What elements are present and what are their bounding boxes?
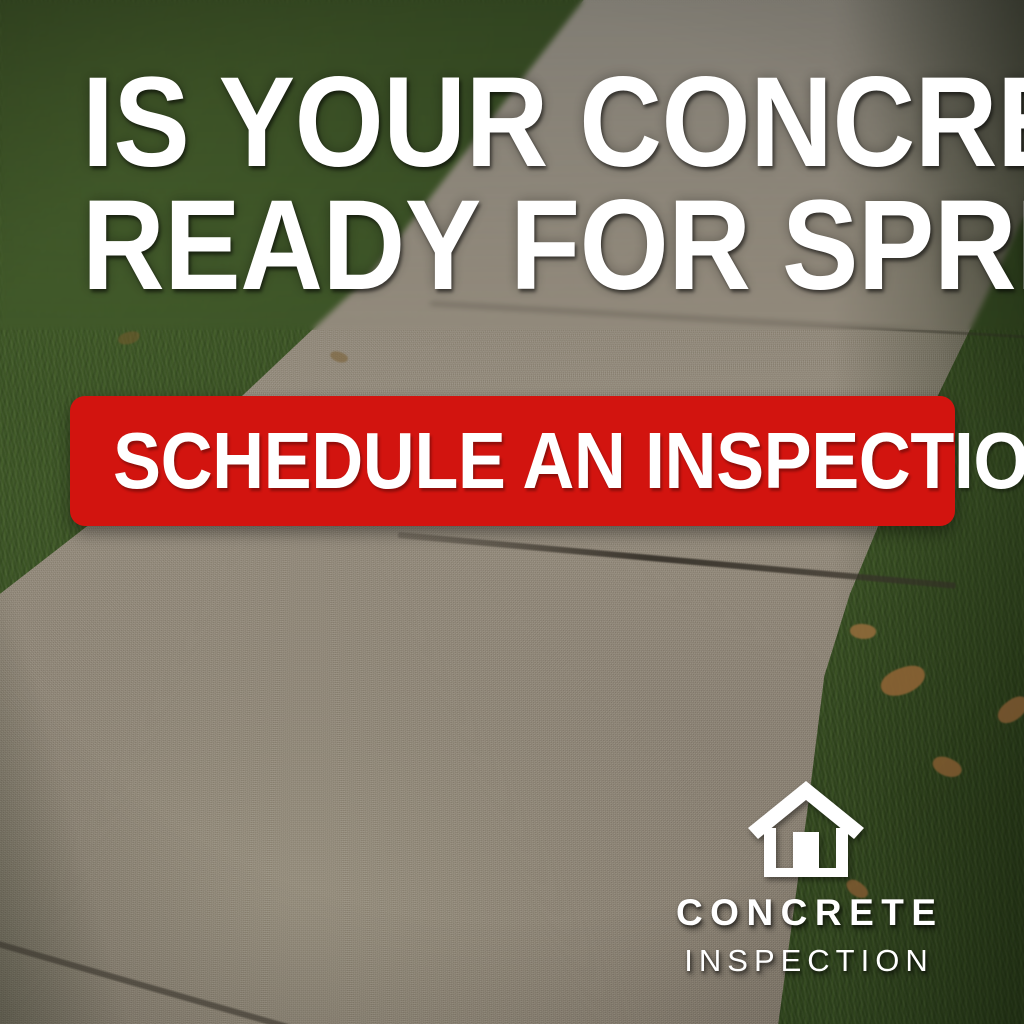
headline-line-1: IS YOUR CONCRETE [82,62,888,185]
schedule-inspection-button[interactable]: SCHEDULE AN INSPECTION [70,396,955,526]
ad-creative: IS YOUR CONCRETE READY FOR SPRING? SCHED… [0,0,1024,1024]
ad-content: IS YOUR CONCRETE READY FOR SPRING? SCHED… [0,0,1024,1024]
schedule-inspection-button-label: SCHEDULE AN INSPECTION [113,421,1024,501]
brand-logo: CONCRETE INSPECTION [656,778,956,976]
house-icon [744,778,868,880]
brand-wordmark: CONCRETE [668,894,943,931]
headline: IS YOUR CONCRETE READY FOR SPRING? [82,62,888,308]
headline-line-2: READY FOR SPRING? [82,185,888,308]
brand-subword: INSPECTION [678,945,933,976]
